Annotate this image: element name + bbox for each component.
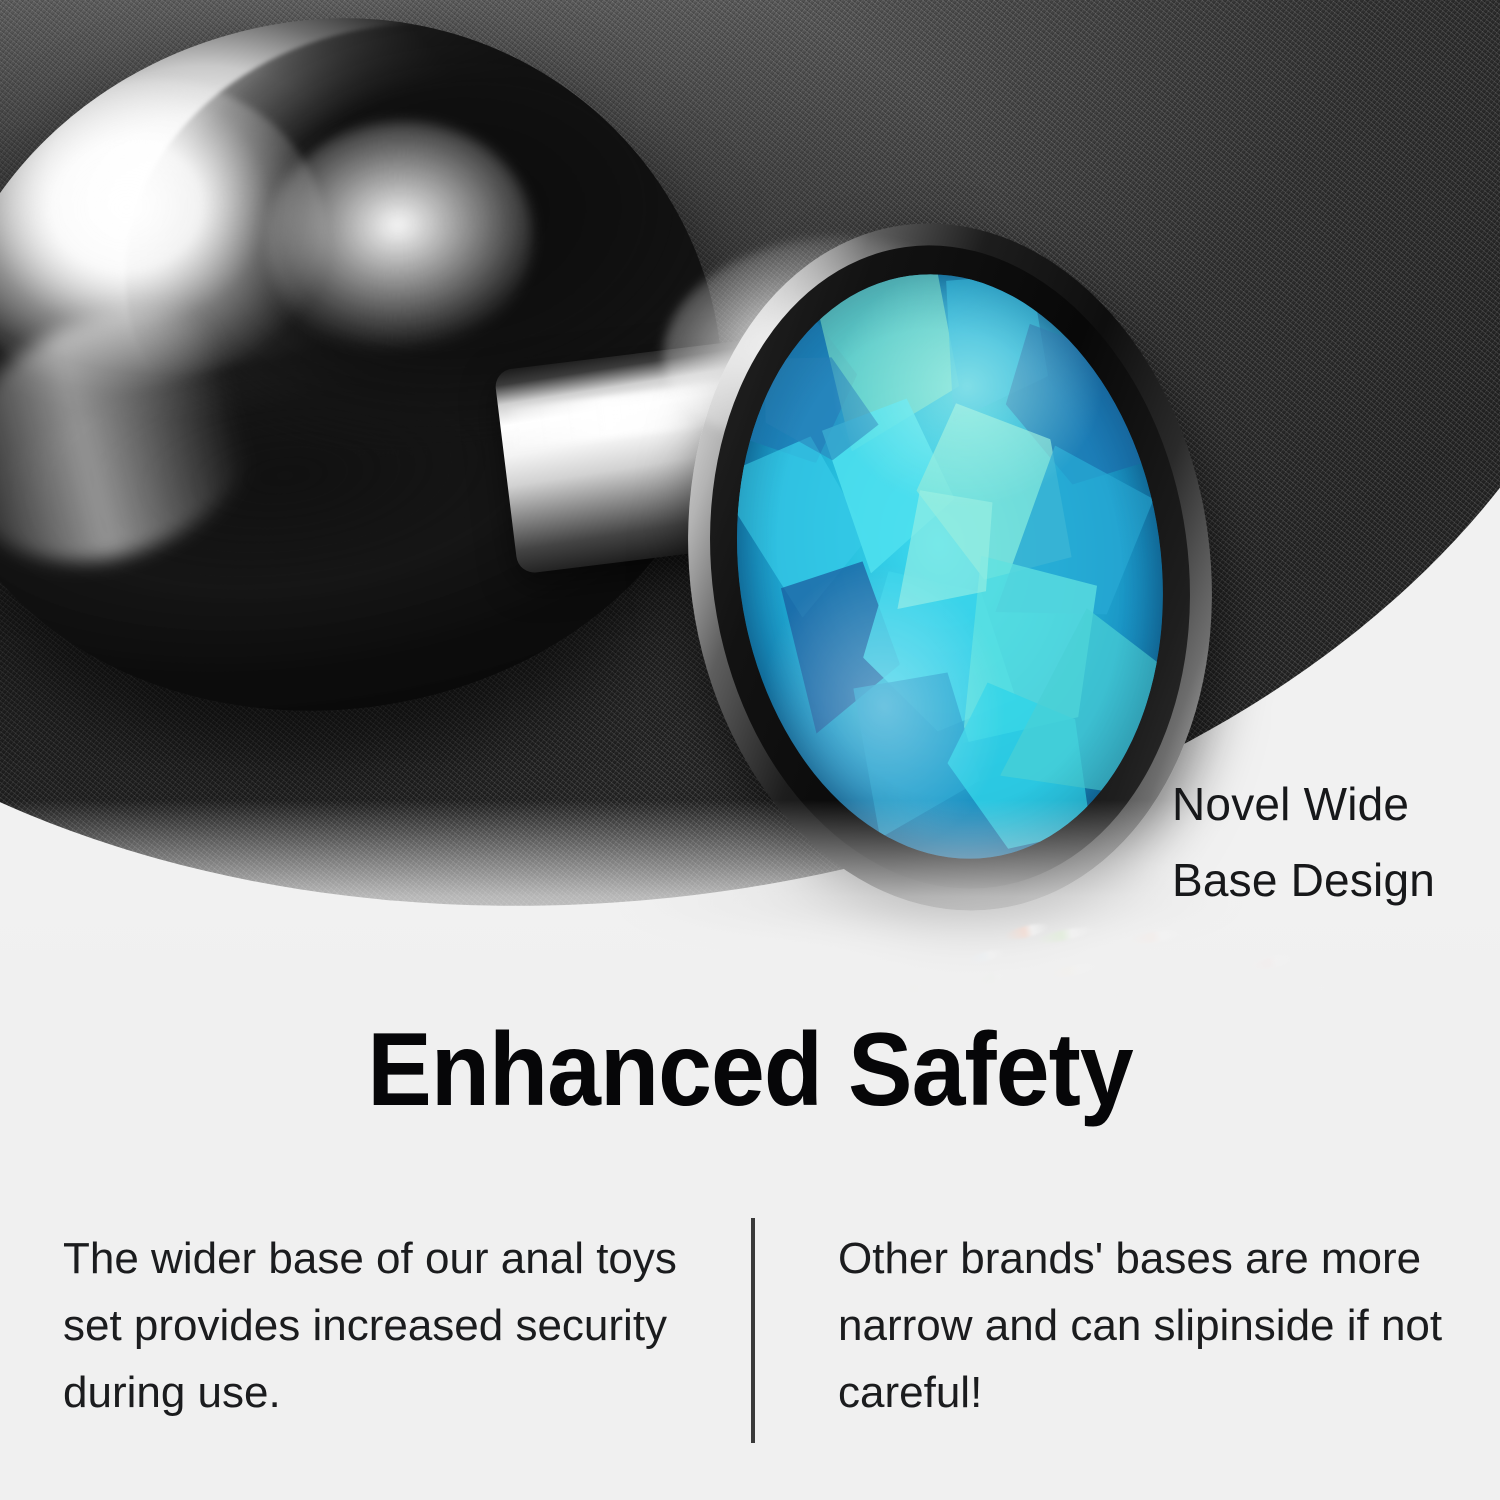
product-marketing-image: Novel Wide Base Design Enhanced Safety T… (0, 0, 1500, 1500)
glitter-sparkle (1176, 998, 1219, 1010)
product-base-disc (645, 189, 1256, 945)
column-our-product: The wider base of our anal toys set prov… (63, 1225, 713, 1426)
page-title: Enhanced Safety (53, 1018, 1448, 1122)
glitter-sparkle (1295, 982, 1334, 999)
glitter-sparkle (1100, 987, 1141, 1005)
glitter-sparkle (900, 978, 935, 997)
glitter-sparkle (1247, 953, 1294, 972)
column-other-brands: Other brands' bases are more narrow and … (838, 1225, 1448, 1426)
glitter-sparkle (966, 947, 1007, 967)
callout-line-1: Novel Wide (1172, 766, 1492, 842)
comparison-columns: The wider base of our anal toys set prov… (0, 1225, 1500, 1465)
glitter-sparkle (1044, 960, 1101, 981)
glitter-sparkle (1360, 998, 1397, 1010)
glitter-sparkle (972, 967, 1017, 989)
callout-line-2: Base Design (1172, 842, 1492, 918)
column-divider (751, 1218, 755, 1443)
callout-novel-wide-base: Novel Wide Base Design (1172, 766, 1492, 918)
